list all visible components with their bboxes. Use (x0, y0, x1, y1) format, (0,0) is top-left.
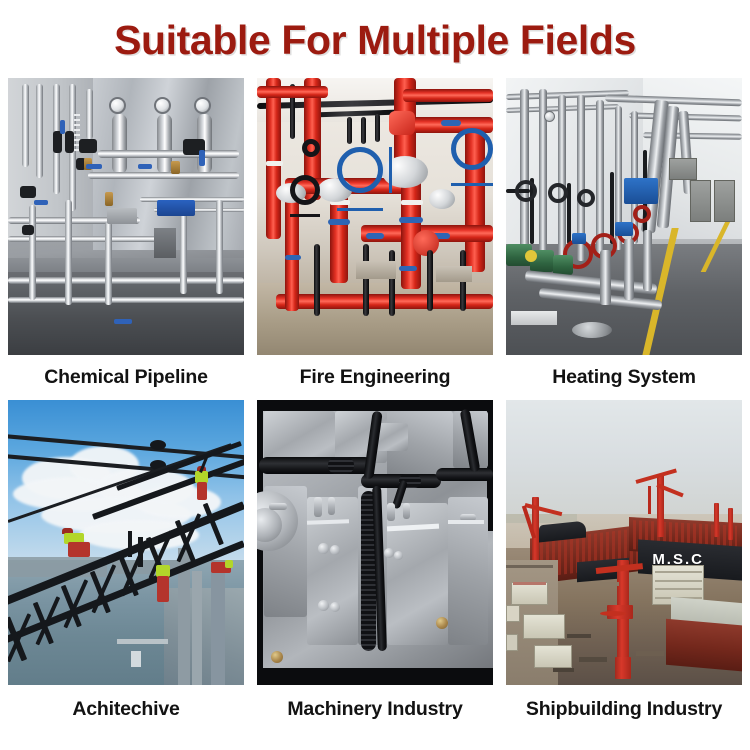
image-gallery-grid: Chemical Pipeline Fire Engineering Heati… (8, 78, 742, 738)
caption-heating-system: Heating System (506, 355, 742, 400)
photo-achitechive (8, 400, 244, 685)
caption-chemical-pipeline: Chemical Pipeline (8, 355, 244, 400)
promo-banner: Suitable For Multiple Fields (0, 0, 750, 750)
photo-machinery-industry (257, 400, 493, 685)
gallery-image-chemical-pipeline[interactable] (8, 78, 244, 355)
gallery-image-fire-engineering[interactable] (257, 78, 493, 355)
gallery-image-achitechive[interactable] (8, 400, 244, 685)
gallery-image-machinery-industry[interactable] (257, 400, 493, 685)
caption-achitechive: Achitechive (8, 685, 244, 733)
gallery-image-shipbuilding-industry[interactable]: M.S.C (506, 400, 742, 685)
photo-shipbuilding-industry: M.S.C (506, 400, 742, 685)
photo-fire-engineering (257, 78, 493, 355)
caption-fire-engineering: Fire Engineering (257, 355, 493, 400)
photo-chemical-pipeline (8, 78, 244, 355)
page-title: Suitable For Multiple Fields (0, 17, 750, 64)
caption-machinery-industry: Machinery Industry (257, 685, 493, 733)
gallery-image-heating-system[interactable] (506, 78, 742, 355)
photo-heating-system (506, 78, 742, 355)
caption-shipbuilding-industry: Shipbuilding Industry (506, 685, 742, 733)
